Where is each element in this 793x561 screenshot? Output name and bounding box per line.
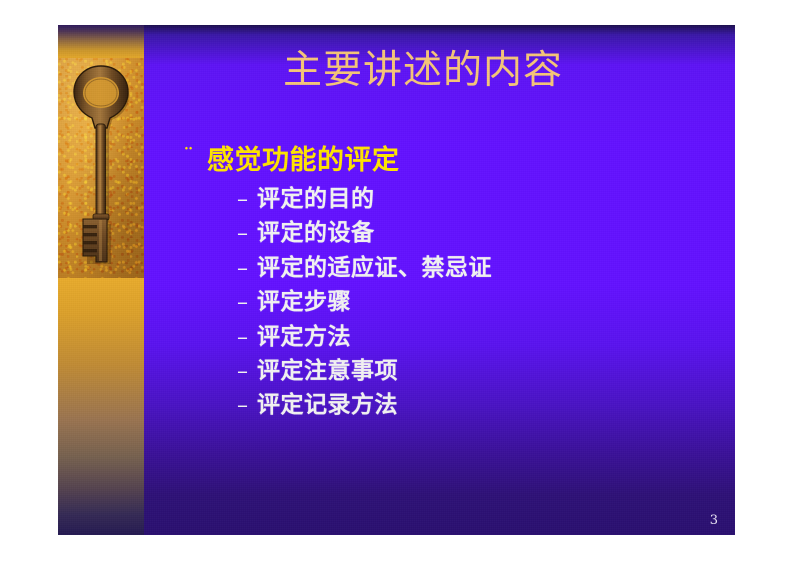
list-item: – 评定的目的 [237,185,713,213]
bullet-level1: ¨ 感觉功能的评定 [183,145,713,176]
slide-body: ¨ 感觉功能的评定 – 评定的目的 – 评定的设备 – 评定的适应证、禁忌证 – [183,145,713,426]
list-item-label: 评定步骤 [257,288,351,316]
dash-marker-icon: – [237,290,257,316]
dash-marker-icon: – [237,256,257,282]
bullet-level2-list: – 评定的目的 – 评定的设备 – 评定的适应证、禁忌证 – 评定步骤 – [237,185,713,420]
list-item-label: 评定的目的 [257,185,375,213]
dash-marker-icon: – [237,221,257,247]
list-item: – 评定的设备 [237,219,713,247]
list-item-label: 评定记录方法 [257,391,398,419]
list-item: – 评定注意事项 [237,357,713,385]
dash-marker-icon: – [237,187,257,213]
sidebar-bottom-gradient-band [58,278,144,535]
bullet-level1-label: 感觉功能的评定 [207,145,400,176]
presentation-slide: 主要讲述的内容 ¨ 感觉功能的评定 – 评定的目的 – 评定的设备 – 评定的适… [58,25,735,535]
list-item: – 评定的适应证、禁忌证 [237,254,713,282]
sidebar-key-photo [58,58,144,278]
list-item: – 评定步骤 [237,288,713,316]
slide-page-number: 3 [710,514,718,527]
bullet-marker-diaeresis-icon: ¨ [183,145,207,169]
sidebar-top-gradient-band [58,25,144,58]
dash-marker-icon: – [237,359,257,385]
dash-marker-icon: – [237,393,257,419]
page-canvas: 主要讲述的内容 ¨ 感觉功能的评定 – 评定的目的 – 评定的设备 – 评定的适… [0,0,793,561]
slide-sidebar-decoration [58,25,144,535]
list-item-label: 评定方法 [257,323,351,351]
list-item-label: 评定的设备 [257,219,375,247]
list-item-label: 评定的适应证、禁忌证 [257,254,492,282]
list-item-label: 评定注意事项 [257,357,398,385]
slide-title: 主要讲述的内容 [158,51,688,92]
antique-key-icon [66,62,136,274]
dash-marker-icon: – [237,325,257,351]
list-item: – 评定记录方法 [237,391,713,419]
list-item: – 评定方法 [237,323,713,351]
